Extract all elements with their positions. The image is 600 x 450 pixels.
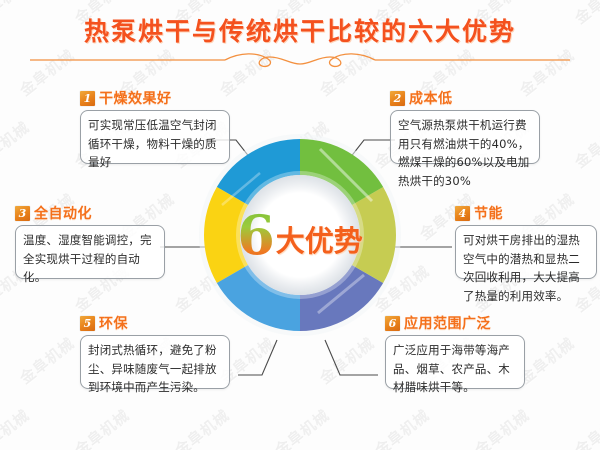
advantage-3-header: 3 全自动化 [15, 203, 165, 223]
advantage-1-header: 1 干燥效果好 [80, 88, 230, 108]
advantage-1-number-badge: 1 [80, 91, 95, 106]
advantage-6-body: 广泛应用于海带等海产品、烟草、农产品、木材腊味烘干等。 [385, 335, 525, 389]
advantage-item-2[interactable]: 2 成本低 空气源热泵烘干机运行费用只有燃油烘干的40%，燃煤干燥的60%以及电… [390, 88, 540, 164]
advantage-6-number-badge: 6 [385, 316, 400, 331]
advantage-1-body: 可实现常压低温空气封闭循环干燥，物料干燥的质量好 [80, 110, 230, 164]
advantage-1-heading: 干燥效果好 [99, 88, 172, 108]
advantage-3-heading: 全自动化 [34, 203, 92, 223]
advantage-4-number-badge: 4 [455, 206, 470, 221]
donut-center-label: 6 大优势 [198, 205, 402, 265]
advantage-item-3[interactable]: 3 全自动化 温度、湿度智能调控，完全实现烘干过程的自动化。 [15, 203, 165, 279]
watermark-text: 金阜机械 [15, 333, 78, 389]
advantage-2-body: 空气源热泵烘干机运行费用只有燃油烘干的40%，燃煤干燥的60%以及电加热烘干的3… [390, 110, 540, 164]
page-title: 热泵烘干与传统烘干比较的六大优势 [0, 12, 600, 48]
watermark-text: 金阜机械 [0, 405, 34, 450]
advantage-2-heading: 成本低 [409, 88, 453, 108]
page-title-text: 热泵烘干与传统烘干比较的六大优势 [84, 17, 516, 46]
center-number: 6 [237, 208, 275, 262]
advantage-5-body: 封闭式热循环，避免了粉尘、异味随废气一起排放到环境中而产生污染。 [80, 335, 230, 389]
advantage-4-heading: 节能 [474, 203, 503, 223]
advantage-2-header: 2 成本低 [390, 88, 540, 108]
advantage-item-4[interactable]: 4 节能 可对烘干房排出的湿热空气中的潜热和显热二次回收利用，大大提高了热量的利… [455, 203, 597, 279]
advantage-item-5[interactable]: 5 环保 封闭式热循环，避免了粉尘、异味随废气一起排放到环境中而产生污染。 [80, 313, 230, 389]
advantage-3-number-badge: 3 [15, 206, 30, 221]
infographic-canvas: 金阜机械金阜机械金阜机械金阜机械金阜机械金阜机械金阜机械金阜机械金阜机械金阜机械… [0, 0, 600, 450]
advantage-4-body: 可对烘干房排出的湿热空气中的潜热和显热二次回收利用，大大提高了热量的利用效率。 [455, 225, 597, 279]
advantage-6-header: 6 应用范围广泛 [385, 313, 525, 333]
watermark-text: 金阜机械 [70, 405, 133, 450]
advantage-5-heading: 环保 [99, 313, 128, 333]
watermark-text: 金阜机械 [570, 117, 600, 173]
advantage-item-1[interactable]: 1 干燥效果好 可实现常压低温空气封闭循环干燥，物料干燥的质量好 [80, 88, 230, 164]
watermark-text: 金阜机械 [570, 405, 600, 450]
watermark-text: 金阜机械 [470, 405, 533, 450]
title-divider-ornament [0, 50, 600, 72]
watermark-text: 金阜机械 [315, 333, 378, 389]
advantage-5-header: 5 环保 [80, 313, 230, 333]
advantage-item-6[interactable]: 6 应用范围广泛 广泛应用于海带等海产品、烟草、农产品、木材腊味烘干等。 [385, 313, 525, 389]
center-label-text: 大优势 [276, 210, 363, 260]
advantage-2-number-badge: 2 [390, 91, 405, 106]
advantage-6-heading: 应用范围广泛 [404, 313, 491, 333]
watermark-text: 金阜机械 [0, 117, 34, 173]
advantage-5-number-badge: 5 [80, 316, 95, 331]
advantage-4-header: 4 节能 [455, 203, 597, 223]
watermark-text: 金阜机械 [370, 405, 433, 450]
watermark-text: 金阜机械 [170, 405, 233, 450]
advantage-3-body: 温度、湿度智能调控，完全实现烘干过程的自动化。 [15, 225, 165, 279]
watermark-text: 金阜机械 [270, 405, 333, 450]
